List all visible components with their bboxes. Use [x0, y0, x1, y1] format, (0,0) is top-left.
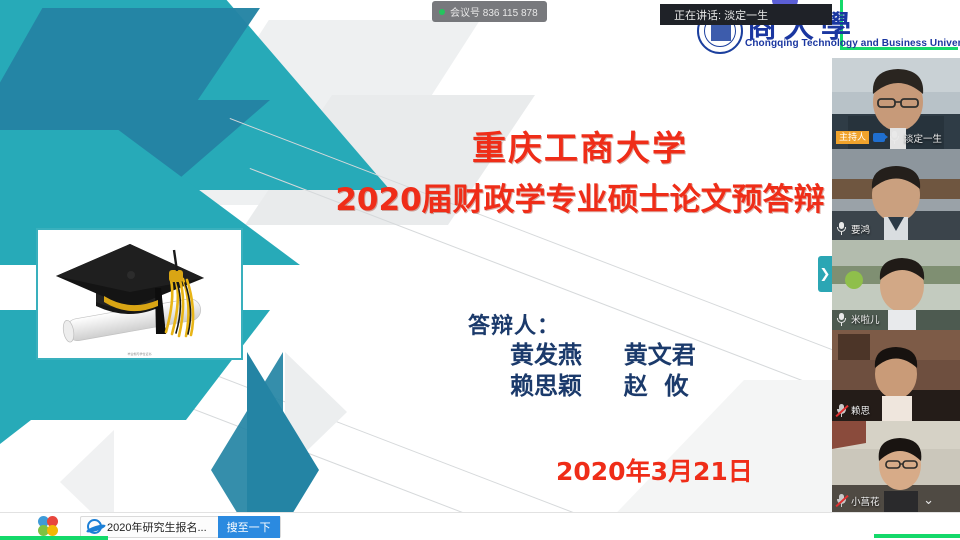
participant-info-bar: 米啦儿 [832, 311, 884, 327]
slide-title-block: 重庆工商大学 2020届财政学专业硕士论文预答辩 [300, 128, 860, 229]
internet-explorer-icon [87, 519, 102, 534]
microphone-icon[interactable] [836, 313, 847, 326]
taskbar[interactable]: 2020年研究生报名... 搜至一下 [0, 512, 960, 540]
start-button-icon[interactable] [38, 516, 62, 538]
meeting-id-badge[interactable]: 会议号 836 115 878 [432, 1, 547, 22]
presentation-date: 2020年3月21日 [556, 452, 753, 488]
chevron-down-icon[interactable]: ⌄ [923, 493, 934, 506]
search-button[interactable]: 搜至一下 [218, 516, 280, 538]
zoom-meeting-screen: 毕业帽与学位证书 重庆工商大学 2020届财政学专业硕士论文预答辩 答辩人： 黄… [0, 0, 960, 540]
taskbar-browser-window[interactable]: 2020年研究生报名... 搜至一下 [80, 516, 281, 538]
graduation-cap-image: 毕业帽与学位证书 [36, 228, 243, 360]
participant-name: 淡定一生 [904, 131, 942, 145]
active-speaker-label: 正在讲话: 淡定一生 [674, 7, 768, 23]
presenter-row-2: 赖思颖 赵 攸 [510, 371, 696, 402]
grey-triangle-bl [60, 430, 114, 512]
participant-info-bar: 赖思 [832, 402, 874, 418]
university-name-en: Chongqing Technology and Business Univer… [745, 38, 960, 49]
host-badge: 主持人 [836, 131, 869, 144]
participant-tile[interactable]: 小菖花 ⌄ [832, 421, 960, 512]
microphone-icon[interactable] [836, 222, 847, 235]
participant-info-bar: 小菖花 [832, 493, 884, 509]
graduation-cap-icon [38, 230, 241, 358]
participant-name: 米啦儿 [851, 312, 880, 326]
participant-name: 小菖花 [851, 494, 880, 508]
participant-name: 要鸿 [851, 222, 870, 236]
presenter-block: 答辩人： 黄发燕 黄文君 赖思颖 赵 攸 [468, 308, 696, 401]
active-speaker-bar: 正在讲话: 淡定一生 [660, 4, 832, 25]
meeting-id-label: 会议号 836 115 878 [450, 4, 538, 19]
recording-dot-icon [439, 9, 445, 15]
participant-video-strip[interactable]: 主持人 淡定一生 [832, 58, 960, 512]
presenter-row-1: 黄发燕 黄文君 [510, 340, 696, 371]
shared-slide: 毕业帽与学位证书 重庆工商大学 2020届财政学专业硕士论文预答辩 答辩人： 黄… [0, 0, 960, 512]
participant-tile[interactable]: 米啦儿 [832, 240, 960, 331]
microphone-muted-icon[interactable] [836, 404, 847, 417]
page-subtitle: 2020届财政学专业硕士论文预答辩 [300, 171, 860, 230]
participant-tile[interactable]: 要鸿 [832, 149, 960, 240]
teal-triangle-right [247, 352, 319, 512]
participant-info-bar: 主持人 淡定一生 [832, 130, 946, 146]
microphone-muted-icon[interactable] [836, 494, 847, 507]
camera-icon[interactable] [873, 133, 885, 142]
green-accent-taskbar-right [874, 534, 960, 538]
participant-info-bar: 要鸿 [832, 221, 874, 237]
image-caption: 毕业帽与学位证书 [127, 352, 151, 356]
collapse-panel-button[interactable]: ❯ [818, 256, 832, 292]
page-title: 重庆工商大学 [300, 128, 860, 171]
browser-window-title: 2020年研究生报名... [107, 519, 207, 535]
participant-tile[interactable]: 赖思 [832, 330, 960, 421]
participant-tile[interactable]: 主持人 淡定一生 [832, 58, 960, 149]
participant-name: 赖思 [851, 403, 870, 417]
microphone-icon[interactable] [889, 131, 900, 144]
presenter-label: 答辩人： [468, 308, 696, 340]
